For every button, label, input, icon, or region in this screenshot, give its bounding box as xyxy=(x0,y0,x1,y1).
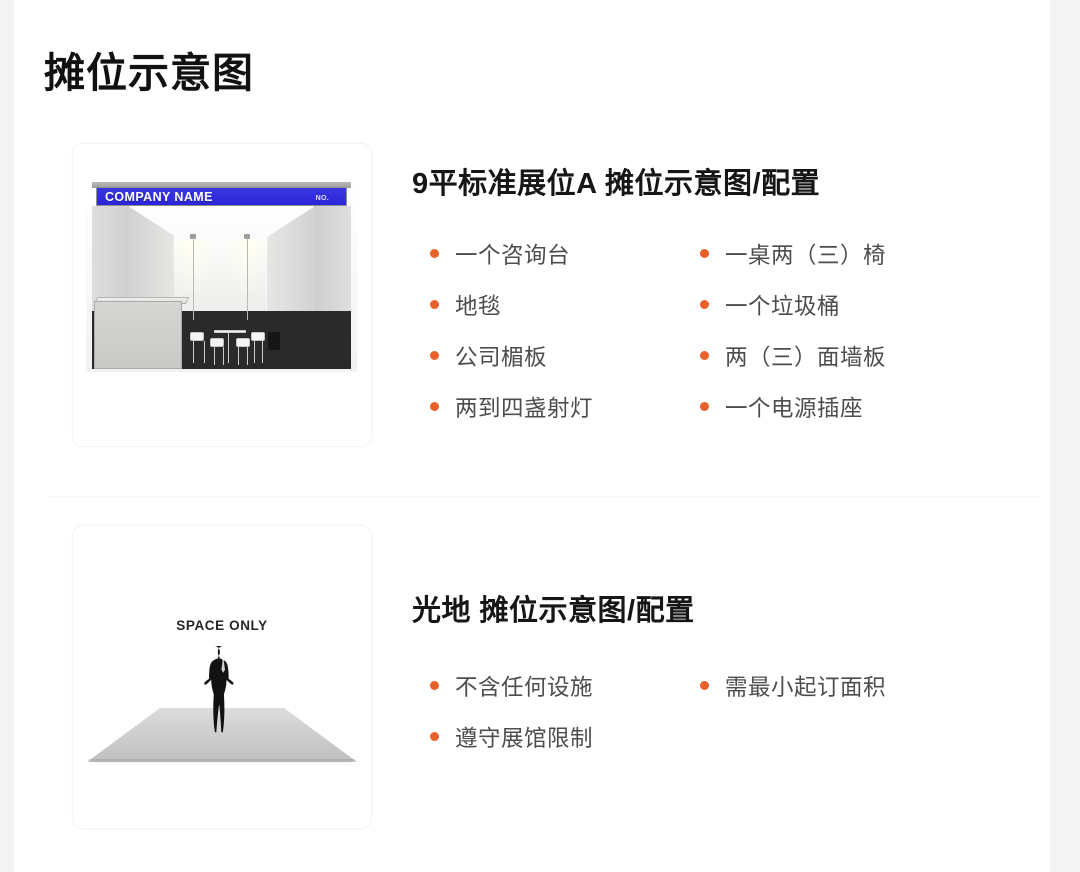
booth-render-image: COMPANY NAME NO. xyxy=(86,180,357,372)
feature-label: 一个电源插座 xyxy=(725,391,863,423)
booth-trash-bin xyxy=(268,332,280,350)
bullet-dot-icon xyxy=(700,300,709,309)
booth-diagram-card[interactable]: COMPANY NAME NO. xyxy=(72,143,372,447)
bullet-dot-icon xyxy=(430,300,439,309)
booth-counter xyxy=(94,301,182,369)
feature-label: 两（三）面墙板 xyxy=(725,340,886,372)
booth-chair-leg xyxy=(238,347,239,365)
page-title: 摊位示意图 xyxy=(44,49,254,98)
person-silhouette-icon xyxy=(201,644,245,744)
booth-chair xyxy=(251,332,265,341)
fascia-company-label: COMPANY NAME xyxy=(105,190,213,204)
feature-label: 公司楣板 xyxy=(455,340,547,372)
booth-chair xyxy=(210,338,224,347)
feature-item-empty xyxy=(700,711,970,762)
booth-pole-right xyxy=(247,238,248,320)
feature-label: 需最小起订面积 xyxy=(725,670,886,702)
bullet-dot-icon xyxy=(700,249,709,258)
feature-label: 两到四盏射灯 xyxy=(455,391,593,423)
bullet-dot-icon xyxy=(430,402,439,411)
standard-booth-feature-list: 一个咨询台 一桌两（三）椅 地毯 一个垃圾桶 xyxy=(430,228,1010,432)
booth-chair-leg xyxy=(247,347,248,365)
feature-item: 不含任何设施 xyxy=(430,660,700,711)
bullet-dot-icon xyxy=(430,351,439,360)
feature-item: 一个咨询台 xyxy=(430,228,700,279)
section-standard-booth: COMPANY NAME NO. xyxy=(14,130,1050,460)
fascia-number-label: NO. xyxy=(316,195,329,202)
bullet-dot-icon xyxy=(700,681,709,690)
feature-item: 地毯 xyxy=(430,279,700,330)
feature-label: 一个垃圾桶 xyxy=(725,289,840,321)
feature-item: 两到四盏射灯 xyxy=(430,381,700,432)
space-only-floor-shadow xyxy=(87,759,357,764)
feature-label: 一个咨询台 xyxy=(455,238,570,270)
feature-label: 不含任何设施 xyxy=(455,670,593,702)
bullet-dot-icon xyxy=(430,249,439,258)
feature-item: 两（三）面墙板 xyxy=(700,330,970,381)
booth-chair-leg xyxy=(262,341,263,363)
booth-pole-left xyxy=(193,238,194,320)
page-root: 摊位示意图 COMPANY NAME NO. xyxy=(0,0,1080,872)
space-only-feature-list: 不含任何设施 需最小起订面积 遵守展馆限制 xyxy=(430,660,1010,762)
booth-chair xyxy=(190,332,204,341)
section-space-only: SPACE ONLY 光地 摊位示意图/配置 不含任何设施 xyxy=(14,512,1050,842)
feature-item: 一个电源插座 xyxy=(700,381,970,432)
feature-label: 地毯 xyxy=(455,289,501,321)
bullet-dot-icon xyxy=(700,351,709,360)
bullet-dot-icon xyxy=(430,681,439,690)
booth-chair xyxy=(236,338,250,347)
space-only-heading: 光地 摊位示意图/配置 xyxy=(412,587,695,629)
feature-item: 一桌两（三）椅 xyxy=(700,228,970,279)
booth-chair-leg xyxy=(204,341,205,363)
feature-item: 需最小起订面积 xyxy=(700,660,970,711)
section-divider xyxy=(50,496,1040,497)
standard-booth-heading: 9平标准展位A 摊位示意图/配置 xyxy=(412,160,820,202)
feature-label: 遵守展馆限制 xyxy=(455,721,593,753)
space-only-label: SPACE ONLY xyxy=(73,618,371,633)
content-sheet: 摊位示意图 COMPANY NAME NO. xyxy=(14,0,1050,872)
booth-chair-leg xyxy=(214,347,215,365)
feature-label: 一桌两（三）椅 xyxy=(725,238,886,270)
feature-item: 公司楣板 xyxy=(430,330,700,381)
booth-chair-leg xyxy=(193,341,194,363)
booth-table xyxy=(214,330,246,333)
booth-table-leg xyxy=(228,333,229,363)
feature-item: 遵守展馆限制 xyxy=(430,711,700,762)
booth-chair-leg xyxy=(223,347,224,365)
space-only-render-image: SPACE ONLY xyxy=(73,526,371,828)
space-only-diagram-card[interactable]: SPACE ONLY xyxy=(72,525,372,829)
booth-chair-leg xyxy=(254,341,255,363)
bullet-dot-icon xyxy=(700,402,709,411)
bullet-dot-icon xyxy=(430,732,439,741)
feature-item: 一个垃圾桶 xyxy=(700,279,970,330)
booth-fascia-banner: COMPANY NAME NO. xyxy=(96,187,347,206)
